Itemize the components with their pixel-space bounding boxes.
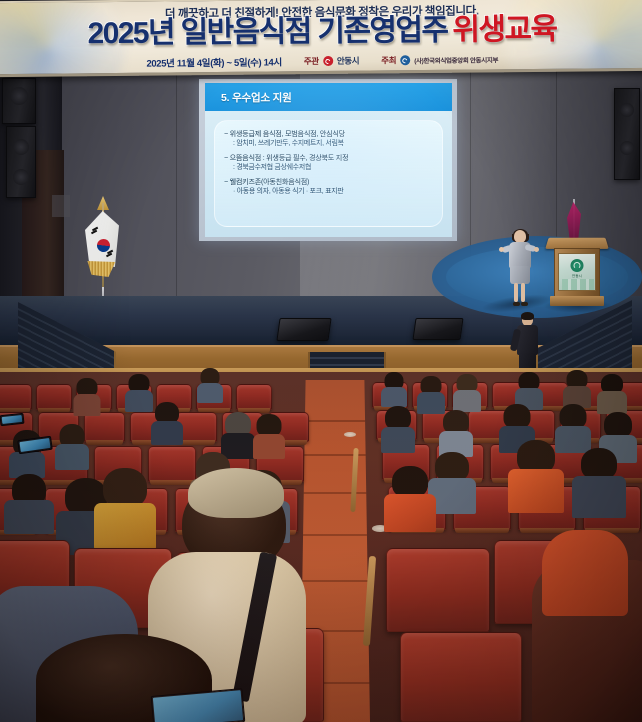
seat-near-right [386,548,490,632]
flag-fringe [84,261,118,277]
banner-host: 주관 안동시 [304,55,359,68]
staff-man [513,312,543,374]
wall-access-panel [52,195,70,217]
podium-panel-graphic [562,279,594,290]
audience-member [382,406,414,450]
slide-bullet-1: − 위생등급제 음식점, 모범음식점, 안심식당 [224,129,438,139]
banner-title: 2025년 일반음식점 기존영업주위생교육 [0,12,642,52]
presentation-slide: 5. 우수업소 지원 − 위생등급제 음식점, 모범음식점, 안심식당 : 암치… [205,83,452,237]
banner-title-highlight: 위생교육 [452,13,556,47]
presenter-hand-right [534,247,539,252]
audience-member [574,448,624,514]
audience-member [382,372,406,406]
audience-member-yellow-vest [96,468,154,544]
slide-bullet-2-detail: : 경북금수저협 금상쉐수저협 [224,163,438,173]
audience-member-orange-top [386,466,434,528]
speaker-stack-left-upper [2,78,36,124]
slide-header-bar: 5. 우수업소 지원 [205,83,452,111]
slide-bullet-1-detail: : 암치미, 쓰레기만두, 수지메트지, 서림복 [224,139,438,149]
podium-base [550,296,604,306]
slide-bullet-3-detail: · 아동용 의자, 아동용 식기 · 포크, 표지판 [224,187,438,197]
audience-member [418,376,444,412]
podium-emblem-text: 안동시 [559,273,595,278]
presenter-shoe-right [521,302,528,306]
audience-member-orange-jacket [510,440,562,510]
host-label: 주관 [304,55,319,67]
slide-title: 5. 우수업소 지원 [221,90,292,105]
korean-national-flag [83,203,123,311]
slide-bullet-2: − 으뜸음식점 : 위생등급 필수, 경상북도 지정 [224,153,438,163]
organizer-label: 주최 [381,54,396,66]
banner-organizer: 주최 (사)한국외식업중앙회 안동시지부 [381,53,498,66]
audience-member [222,412,254,456]
audience-member [74,378,100,414]
banner-title-main: 2025년 일반음식점 기존영업주 [87,14,447,50]
organizer-logo-icon [400,55,410,65]
presenter-shoe-left [513,302,520,306]
staff-hair [521,312,534,320]
speaker-stack-right [614,88,640,180]
auditorium-photo: 5. 우수업소 지원 − 위생등급제 음식점, 모범음식점, 안심식당 : 암치… [0,0,642,722]
presenter-woman [503,230,537,308]
podium-emblem-panel: 안동시 [558,253,596,291]
seat-front-right [400,632,522,722]
aisle-floor-marker [344,432,356,437]
presenter-skirt [510,266,530,284]
stage-monitor-right [412,318,463,340]
audience-member [126,374,152,410]
slide-bullet-3: − 웰컴키즈존(아동친화음식점) [224,177,438,187]
city-emblem-icon [571,259,584,272]
projection-screen: 5. 우수업소 지원 − 위생등급제 음식점, 모범음식점, 안심식당 : 암치… [199,79,457,241]
slide-content-card: − 위생등급제 음식점, 모범음식점, 안심식당 : 암치미, 쓰레기만두, 수… [214,120,443,227]
flag-cloth [85,211,119,267]
audience-member [564,370,590,406]
presenter-legs [514,283,526,302]
audience-member [56,424,88,468]
podium-lectern: 안동시 [551,237,603,309]
audience-member [598,374,626,412]
audience-member [152,402,182,442]
audience-member [198,368,222,402]
beige-cap [188,468,284,518]
event-banner: 더 깨끗하고 더 친절하게! 안전한 음식문화 정착은 우리가 책임집니다. 2… [0,0,642,77]
host-logo-icon [323,56,333,66]
audience-member [440,410,472,454]
audience-member-with-phone [6,468,52,530]
stage-monitor-left [276,318,331,341]
host-name: 안동시 [337,55,360,67]
audience-member [254,414,284,456]
banner-footer: 2025년 11월 4일(화) ~ 5일(수) 14시 주관 안동시 주최 (사… [0,51,642,71]
audience-member [516,372,542,408]
organizer-name: (사)한국외식업중앙회 안동시지부 [414,54,498,65]
speaker-stack-left-lower [6,126,36,198]
wall-seam [176,66,177,306]
slide-body: − 위생등급제 음식점, 모범음식점, 안심식당 : 암치미, 쓰레기만두, 수… [205,111,452,237]
audience-member [454,374,480,410]
audience-member [430,452,474,510]
banner-date: 2025년 11월 4일(화) ~ 5일(수) 14시 [146,54,282,69]
presenter-hand-left [499,247,504,252]
foreground-person-orange [542,530,628,616]
